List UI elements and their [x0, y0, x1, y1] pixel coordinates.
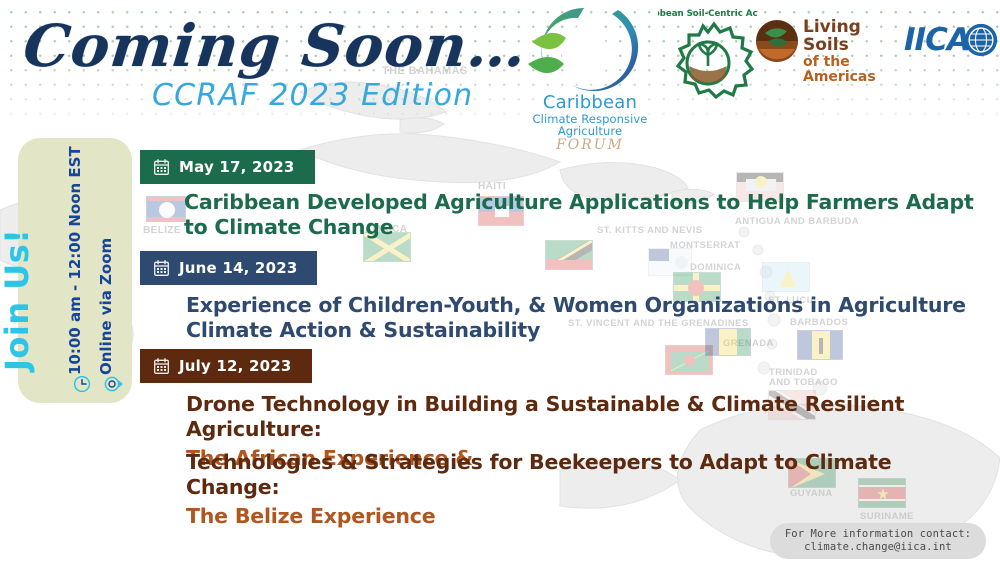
session-title-july: Drone Technology in Building a Sustainab…: [186, 392, 990, 442]
calendar-icon: [154, 358, 169, 374]
contact-line1: For More information contact:: [785, 528, 971, 541]
agenda-extra-topic[interactable]: Technologies & Strategies for Beekeepers…: [140, 450, 990, 529]
join-us-time: 10:00 am - 12:00 Noon EST: [66, 146, 84, 375]
session-date-badge-july[interactable]: July 12, 2023: [140, 349, 312, 383]
session-body-june: Experience of Children-Youth, & Women Or…: [140, 293, 990, 343]
logo-row: Caribbean Climate Responsive Agriculture…: [490, 2, 995, 152]
video-camera-icon: [104, 375, 124, 393]
session-title-may: Caribbean Developed Agriculture Applicat…: [184, 190, 990, 240]
session-date-text-july: July 12, 2023: [179, 357, 292, 375]
water-drop-leaf-icon: [522, 2, 652, 98]
living-soils-line2: of the Americas: [803, 55, 905, 85]
map-label-montserrat: MONTSERRAT: [670, 241, 740, 251]
iica-wordmark: IICA: [904, 22, 970, 58]
living-soils-of-the-americas-logo: Living Soils of the Americas: [755, 16, 905, 76]
ccraf-logo: Caribbean Climate Responsive Agriculture…: [500, 2, 680, 148]
svg-text:Caribbean Soil-Centric Actions: Caribbean Soil-Centric Actions: [658, 9, 758, 19]
extra-topic-title: Technologies & Strategies for Beekeepers…: [186, 450, 990, 500]
contact-line2: climate.change@iica.int: [804, 541, 952, 554]
iica-globe-icon: [964, 23, 998, 57]
session-date-badge-may[interactable]: May 17, 2023: [140, 150, 315, 184]
join-us-panel: Join Us! 10:00 am - 12:00 Noon EST Onlin…: [18, 138, 132, 403]
caribbean-soil-centric-actions-logo: Caribbean Soil-Centric Actions: [658, 8, 758, 108]
clock-icon: [73, 375, 91, 393]
join-us-content: Join Us! 10:00 am - 12:00 Noon EST Onlin…: [18, 139, 132, 389]
agenda-session-june[interactable]: June 14, 2023 Experience of Children-You…: [140, 251, 990, 343]
ccraf-wordmark: Caribbean Climate Responsive Agriculture…: [500, 94, 680, 153]
ccraf-word-line1: Caribbean: [500, 94, 680, 113]
poster-canvas: THE BAHAMAS BELIZE HAITI JAMAICA ST. KIT…: [0, 0, 1000, 562]
join-us-platform: Online via Zoom: [97, 238, 115, 375]
session-date-text-may: May 17, 2023: [179, 158, 295, 176]
living-soils-line1: Living Soils: [803, 18, 905, 55]
calendar-icon: [154, 159, 169, 175]
session-date-text-june: June 14, 2023: [179, 259, 297, 277]
session-date-badge-june[interactable]: June 14, 2023: [140, 251, 317, 285]
living-soils-wordmark: Living Soils of the Americas: [803, 18, 905, 85]
agenda-session-may[interactable]: May 17, 2023 Caribbean Developed Agricul…: [140, 150, 990, 240]
session-body-may: Caribbean Developed Agriculture Applicat…: [140, 190, 990, 240]
page-title-coming-soon: Coming Soon…: [20, 12, 530, 80]
ccraf-word-line2: Climate Responsive Agriculture: [500, 113, 680, 137]
extra-topic-body: Technologies & Strategies for Beekeepers…: [140, 450, 990, 529]
living-soils-globe-icon: [755, 19, 799, 63]
contact-pill[interactable]: For More information contact: climate.ch…: [770, 523, 986, 559]
calendar-icon: [154, 260, 169, 276]
page-subtitle-edition: CCRAF 2023 Edition: [152, 78, 473, 113]
join-us-heading: Join Us!: [0, 229, 36, 371]
iica-logo: IICA: [904, 20, 996, 68]
session-title-june: Experience of Children-Youth, & Women Or…: [186, 293, 990, 343]
